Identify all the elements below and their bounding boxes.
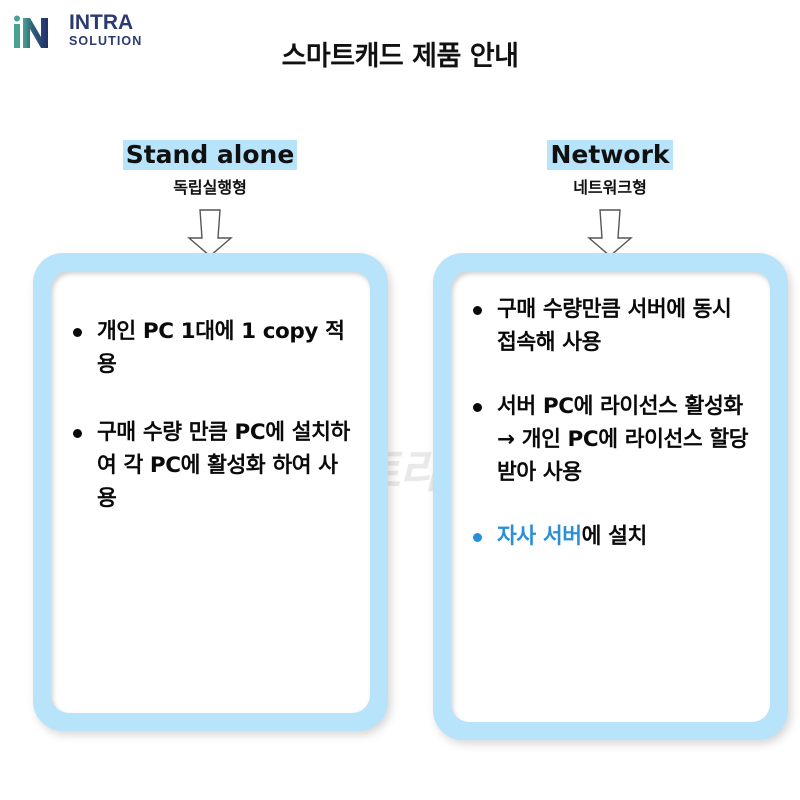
card-inner-stand-alone: 개인 PC 1대에 1 copy 적용 구매 수량 만큼 PC에 설치하여 각 … xyxy=(51,271,370,713)
list-item: 구매 수량 만큼 PC에 설치하여 각 PC에 활성화 하여 사용 xyxy=(67,416,354,516)
heading-en-network: Network xyxy=(547,140,672,170)
card-inner-network: 구매 수량만큼 서버에 동시 접속해 사용 서버 PC에 라이선스 활성화 → … xyxy=(451,271,770,722)
list-item: 구매 수량만큼 서버에 동시 접속해 사용 xyxy=(467,293,754,360)
column-heading-network: Network 네트워크형 xyxy=(420,140,800,198)
heading-en-stand-alone: Stand alone xyxy=(123,140,298,170)
accent-rest-text: 에 설치 xyxy=(582,524,647,549)
card-stand-alone: 개인 PC 1대에 1 copy 적용 구매 수량 만큼 PC에 설치하여 각 … xyxy=(33,253,388,731)
list-item-accent: 자사 서버에 설치 xyxy=(467,520,754,553)
bullet-list-stand-alone: 개인 PC 1대에 1 copy 적용 구매 수량 만큼 PC에 설치하여 각 … xyxy=(67,315,354,516)
accent-text: 자사 서버 xyxy=(497,524,582,549)
slide-canvas: (주)인트라솔루션 INTRA SOLUTION 스마트캐드 제 xyxy=(0,0,800,800)
heading-kr-stand-alone: 독립실행형 xyxy=(20,174,400,198)
bullet-list-network: 구매 수량만큼 서버에 동시 접속해 사용 서버 PC에 라이선스 활성화 → … xyxy=(467,293,754,553)
column-network: Network 네트워크형 구매 수량만큼 서버에 동시 접속해 사용 서버 P… xyxy=(420,0,800,800)
heading-kr-network: 네트워크형 xyxy=(420,174,800,198)
list-item: 서버 PC에 라이선스 활성화 → 개인 PC에 라이선스 할당받아 사용 xyxy=(467,390,754,490)
column-stand-alone: Stand alone 독립실행형 개인 PC 1대에 1 copy 적용 구매… xyxy=(20,0,400,800)
column-heading-stand-alone: Stand alone 독립실행형 xyxy=(20,140,400,198)
list-item: 개인 PC 1대에 1 copy 적용 xyxy=(67,315,354,382)
card-network: 구매 수량만큼 서버에 동시 접속해 사용 서버 PC에 라이선스 활성화 → … xyxy=(433,253,788,740)
